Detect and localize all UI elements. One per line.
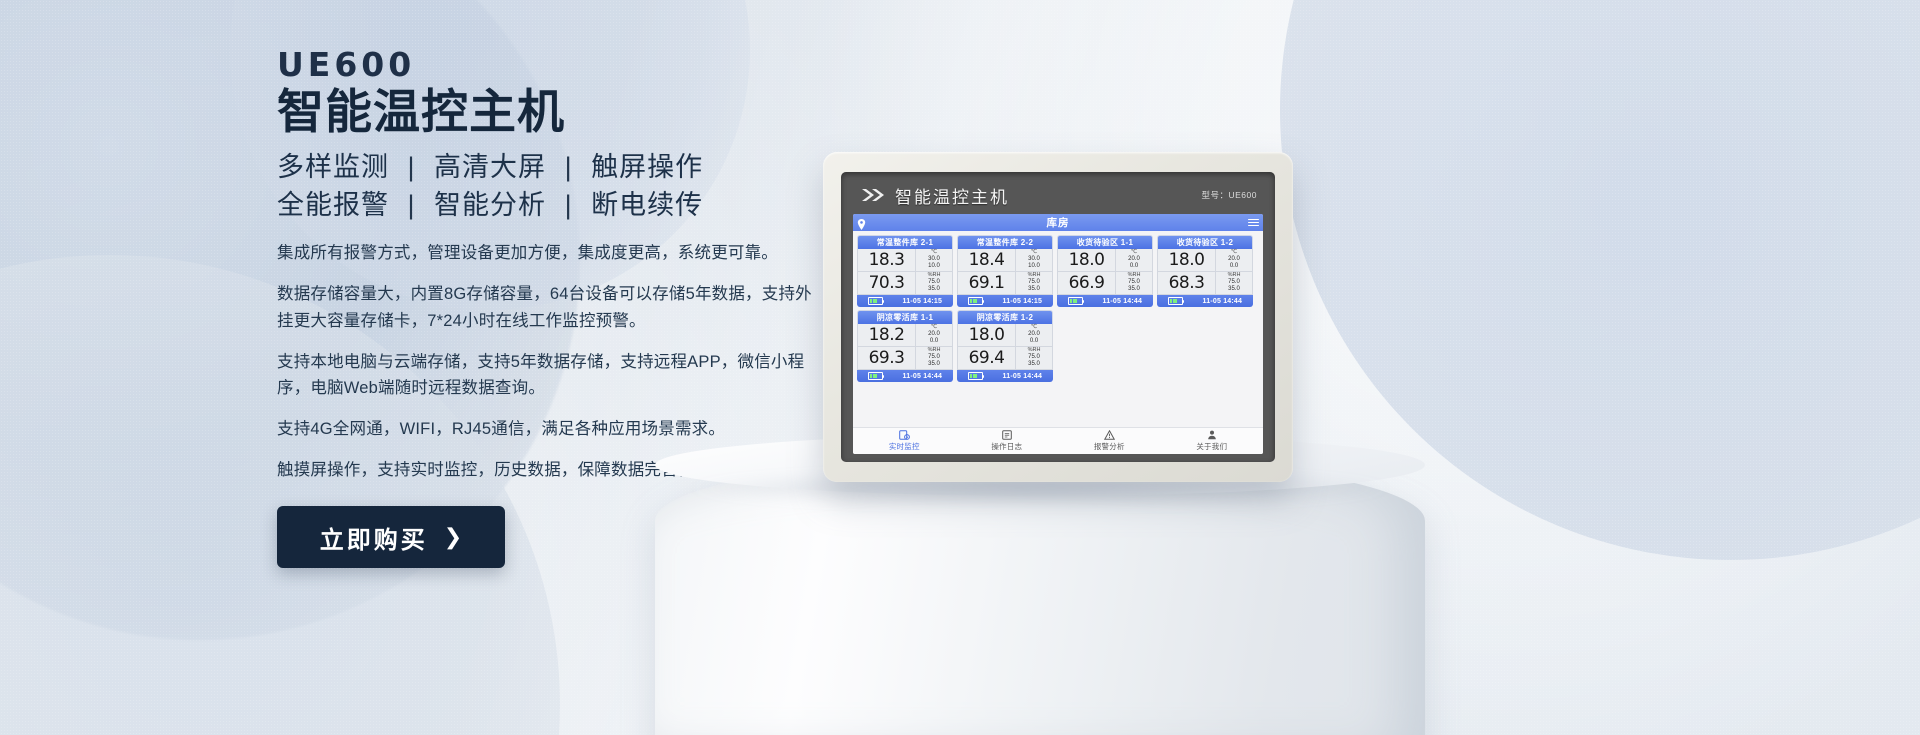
ue600-device: 智能温控主机 型号：UE600 库房	[823, 152, 1293, 482]
temperature-metric: 18.0 ℃ 20.0 0.0	[958, 324, 1052, 346]
card-body: 18.4 ℃ 30.0 10.0 69.1	[957, 249, 1053, 295]
card-timestamp-bar: 11-05 14:44	[857, 370, 953, 382]
nav-item-operation-log[interactable]: 操作日志	[956, 430, 1059, 452]
humidity-min: 35.0	[1028, 361, 1040, 368]
card-row: 阴凉零活库 1-1 18.2 ℃ 20.0 0.0	[857, 310, 1259, 382]
description-paragraph: 支持本地电脑与云端存储，支持5年数据存储，支持远程APP，微信小程序，电脑Web…	[277, 349, 822, 402]
humidity-unit: %RH	[928, 347, 941, 354]
humidity-limits: %RH 75.0 35.0	[1215, 272, 1252, 294]
temperature-unit: ℃	[1131, 249, 1137, 256]
temperature-min: 0.0	[1230, 263, 1238, 270]
log-document-icon	[1002, 430, 1012, 440]
humidity-limits: %RH 75.0 35.0	[1015, 272, 1052, 294]
humidity-unit: %RH	[1028, 347, 1041, 354]
battery-icon	[968, 372, 983, 380]
humidity-value: 69.4	[958, 347, 1015, 369]
card-body: 18.0 ℃ 20.0 0.0 66.9	[1057, 249, 1153, 295]
card-timestamp-bar: 11-05 14:44	[1157, 295, 1253, 307]
humidity-max: 75.0	[928, 279, 940, 286]
screen-bottom-nav: 实时监控 操作日志	[853, 427, 1263, 454]
temperature-metric: 18.2 ℃ 20.0 0.0	[858, 324, 952, 346]
monitor-card[interactable]: 常温整件库 2-1 18.3 ℃ 30.0 10.0	[857, 235, 953, 307]
card-title: 阴凉零活库 1-2	[957, 310, 1053, 324]
list-menu-icon[interactable]	[1248, 219, 1259, 227]
temperature-unit: ℃	[1031, 249, 1037, 256]
feature-item: 断电续传	[591, 190, 703, 220]
humidity-value: 68.3	[1158, 272, 1215, 294]
device-model-label: 型号：UE600	[1201, 189, 1263, 201]
humidity-value: 69.3	[858, 347, 915, 369]
humidity-metric: 66.9 %RH 75.0 35.0	[1058, 271, 1152, 294]
temperature-metric: 18.0 ℃ 20.0 0.0	[1058, 249, 1152, 271]
card-timestamp: 11-05 14:44	[1103, 298, 1143, 305]
page-title: 智能温控主机	[277, 87, 897, 138]
card-timestamp-bar: 11-05 14:44	[1057, 295, 1153, 307]
temperature-limits: ℃ 20.0 0.0	[1015, 324, 1052, 346]
card-timestamp-bar: 11-05 14:15	[957, 295, 1053, 307]
temperature-max: 30.0	[928, 256, 940, 263]
monitor-card[interactable]: 阴凉零活库 1-2 18.0 ℃ 20.0 0.0	[957, 310, 1053, 382]
device-screen: 库房 常温整件库 2-1 18.3 ℃ 30	[853, 214, 1263, 454]
card-timestamp: 11-05 14:44	[1003, 373, 1043, 380]
humidity-min: 35.0	[928, 286, 940, 293]
model-label-value: UE600	[1229, 190, 1258, 200]
location-pin-icon	[857, 217, 866, 228]
humidity-value: 66.9	[1058, 272, 1115, 294]
card-title: 阴凉零活库 1-1	[857, 310, 953, 324]
humidity-min: 35.0	[1228, 286, 1240, 293]
feature-line-1: 多样监测 | 高清大屏 | 触屏操作	[277, 148, 897, 186]
description-paragraph: 数据存储容量大，内置8G存储容量，64台设备可以存储5年数据，支持外挂更大容量存…	[277, 281, 822, 334]
screen-title: 库房	[853, 215, 1263, 230]
nav-label: 操作日志	[991, 441, 1022, 452]
humidity-unit: %RH	[928, 272, 941, 279]
battery-icon	[1168, 297, 1183, 305]
battery-icon	[868, 297, 883, 305]
humidity-max: 75.0	[1028, 279, 1040, 286]
monitor-card[interactable]: 阴凉零活库 1-1 18.2 ℃ 20.0 0.0	[857, 310, 953, 382]
card-title: 常温整件库 2-2	[957, 235, 1053, 249]
humidity-metric: 69.3 %RH 75.0 35.0	[858, 346, 952, 369]
temperature-limits: ℃ 30.0 10.0	[915, 249, 952, 271]
temperature-value: 18.0	[958, 324, 1015, 346]
humidity-max: 75.0	[928, 354, 940, 361]
humidity-unit: %RH	[1128, 272, 1141, 279]
info-person-icon	[1207, 430, 1217, 440]
temperature-value: 18.4	[958, 249, 1015, 271]
nav-label: 关于我们	[1196, 441, 1227, 452]
temperature-max: 20.0	[1228, 256, 1240, 263]
card-timestamp: 11-05 14:15	[903, 298, 943, 305]
feature-item: 触屏操作	[591, 152, 703, 182]
feature-separator: |	[555, 148, 583, 186]
card-timestamp: 11-05 14:44	[903, 373, 943, 380]
temperature-limits: ℃ 20.0 0.0	[1215, 249, 1252, 271]
card-body: 18.0 ℃ 20.0 0.0 68.3	[1157, 249, 1253, 295]
humidity-limits: %RH 75.0 35.0	[915, 347, 952, 369]
humidity-max: 75.0	[1028, 354, 1040, 361]
temperature-min: 0.0	[930, 338, 938, 345]
humidity-metric: 70.3 %RH 75.0 35.0	[858, 271, 952, 294]
feature-item: 智能分析	[434, 190, 546, 220]
nav-item-realtime-monitor[interactable]: 实时监控	[853, 430, 956, 452]
card-body: 18.2 ℃ 20.0 0.0 69.3	[857, 324, 953, 370]
card-timestamp: 11-05 14:15	[1003, 298, 1043, 305]
humidity-value: 69.1	[958, 272, 1015, 294]
card-title: 常温整件库 2-1	[857, 235, 953, 249]
card-title: 收货待验区 1-1	[1057, 235, 1153, 249]
temperature-value: 18.0	[1058, 249, 1115, 271]
description-paragraph: 集成所有报警方式，管理设备更加方便，集成度更高，系统更可靠。	[277, 240, 822, 267]
temperature-value: 18.0	[1158, 249, 1215, 271]
model-label-text: 型号：	[1201, 190, 1228, 200]
temperature-unit: ℃	[1231, 249, 1237, 256]
screen-topbar: 库房	[853, 214, 1263, 231]
temperature-max: 20.0	[928, 331, 940, 338]
monitor-clock-icon	[899, 430, 910, 440]
humidity-value: 70.3	[858, 272, 915, 294]
card-body: 18.3 ℃ 30.0 10.0 70.3	[857, 249, 953, 295]
product-banner: UE600 智能温控主机 多样监测 | 高清大屏 | 触屏操作 全能报警 | 智…	[0, 0, 1920, 735]
humidity-metric: 68.3 %RH 75.0 35.0	[1158, 271, 1252, 294]
model-name: UE600	[277, 48, 897, 81]
temperature-value: 18.2	[858, 324, 915, 346]
humidity-metric: 69.1 %RH 75.0 35.0	[958, 271, 1052, 294]
feature-item: 全能报警	[277, 190, 389, 220]
temperature-max: 20.0	[1028, 331, 1040, 338]
device-header: 智能温控主机 型号：UE600	[853, 182, 1263, 208]
card-title: 收货待验区 1-2	[1157, 235, 1253, 249]
temperature-min: 0.0	[1030, 338, 1038, 345]
feature-item: 高清大屏	[434, 152, 546, 182]
card-row: 常温整件库 2-1 18.3 ℃ 30.0 10.0	[857, 235, 1259, 307]
feature-separator: |	[555, 186, 583, 224]
humidity-min: 35.0	[1028, 286, 1040, 293]
temperature-max: 20.0	[1128, 256, 1140, 263]
humidity-unit: %RH	[1228, 272, 1241, 279]
card-timestamp: 11-05 14:44	[1203, 298, 1243, 305]
nav-label: 报警分析	[1094, 441, 1125, 452]
monitor-card[interactable]: 收货待验区 1-1 18.0 ℃ 20.0 0.0	[1057, 235, 1153, 307]
temperature-metric: 18.3 ℃ 30.0 10.0	[858, 249, 952, 271]
feature-separator: |	[398, 148, 426, 186]
warning-triangle-icon	[1104, 430, 1115, 440]
card-timestamp-bar: 11-05 14:15	[857, 295, 953, 307]
temperature-min: 10.0	[928, 263, 940, 270]
battery-icon	[868, 372, 883, 380]
monitor-card[interactable]: 常温整件库 2-2 18.4 ℃ 30.0 10.0	[957, 235, 1053, 307]
double-chevron-icon	[861, 188, 887, 202]
temperature-limits: ℃ 20.0 0.0	[1115, 249, 1152, 271]
temperature-unit: ℃	[1031, 324, 1037, 331]
humidity-max: 75.0	[1228, 279, 1240, 286]
temperature-limits: ℃ 20.0 0.0	[915, 324, 952, 346]
description-paragraph: 支持4G全网通，WIFI，RJ45通信，满足各种应用场景需求。	[277, 416, 822, 443]
feature-separator: |	[398, 186, 426, 224]
device-header-title: 智能温控主机	[895, 183, 1009, 208]
temperature-max: 30.0	[1028, 256, 1040, 263]
humidity-min: 35.0	[928, 361, 940, 368]
humidity-unit: %RH	[1028, 272, 1041, 279]
battery-icon	[968, 297, 983, 305]
temperature-unit: ℃	[931, 324, 937, 331]
monitor-card[interactable]: 收货待验区 1-2 18.0 ℃ 20.0 0.0	[1157, 235, 1253, 307]
battery-icon	[1068, 297, 1083, 305]
humidity-min: 35.0	[1128, 286, 1140, 293]
humidity-limits: %RH 75.0 35.0	[1115, 272, 1152, 294]
nav-item-alarm-analysis[interactable]: 报警分析	[1058, 430, 1161, 452]
monitor-cards-area: 常温整件库 2-1 18.3 ℃ 30.0 10.0	[853, 231, 1263, 427]
card-timestamp-bar: 11-05 14:44	[957, 370, 1053, 382]
humidity-max: 75.0	[1128, 279, 1140, 286]
copy-block: UE600 智能温控主机 多样监测 | 高清大屏 | 触屏操作 全能报警 | 智…	[277, 48, 897, 497]
buy-now-label: 立即购买	[320, 520, 428, 555]
temperature-metric: 18.4 ℃ 30.0 10.0	[958, 249, 1052, 271]
chevron-right-icon: ❯	[444, 524, 462, 550]
buy-now-button[interactable]: 立即购买 ❯	[277, 506, 505, 568]
nav-item-about-us[interactable]: 关于我们	[1161, 430, 1264, 452]
feature-item: 多样监测	[277, 152, 389, 182]
temperature-metric: 18.0 ℃ 20.0 0.0	[1158, 249, 1252, 271]
temperature-limits: ℃ 30.0 10.0	[1015, 249, 1052, 271]
humidity-limits: %RH 75.0 35.0	[1015, 347, 1052, 369]
humidity-metric: 69.4 %RH 75.0 35.0	[958, 346, 1052, 369]
card-body: 18.0 ℃ 20.0 0.0 69.4	[957, 324, 1053, 370]
temperature-min: 10.0	[1028, 263, 1040, 270]
nav-label: 实时监控	[889, 441, 920, 452]
temperature-unit: ℃	[931, 249, 937, 256]
feature-line-2: 全能报警 | 智能分析 | 断电续传	[277, 186, 897, 224]
feature-list: 多样监测 | 高清大屏 | 触屏操作 全能报警 | 智能分析 | 断电续传	[277, 148, 897, 225]
humidity-limits: %RH 75.0 35.0	[915, 272, 952, 294]
temperature-value: 18.3	[858, 249, 915, 271]
temperature-min: 0.0	[1130, 263, 1138, 270]
device-bezel: 智能温控主机 型号：UE600 库房	[841, 172, 1275, 462]
